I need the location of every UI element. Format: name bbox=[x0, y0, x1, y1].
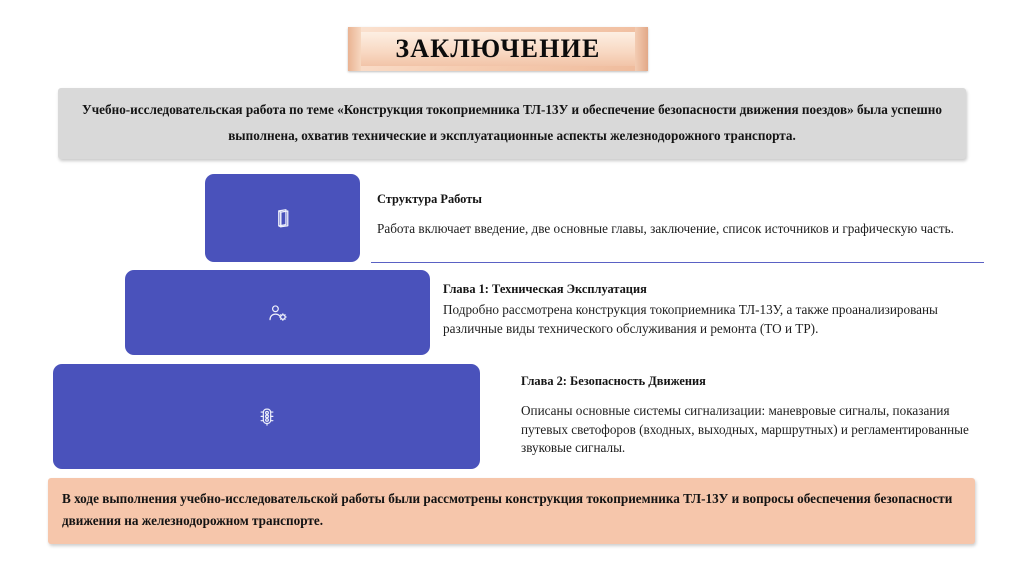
user-gear-icon bbox=[267, 302, 289, 324]
row-3-heading: Глава 2: Безопасность Движения bbox=[521, 374, 991, 389]
row-1-divider bbox=[371, 262, 984, 263]
row-2-heading: Глава 1: Техническая Эксплуатация bbox=[443, 282, 988, 297]
row-3-icon-box bbox=[53, 364, 480, 469]
slide-title-plate: ЗАКЛЮЧЕНИЕ bbox=[348, 27, 648, 71]
intro-banner: Учебно-исследовательская работа по теме … bbox=[58, 88, 966, 159]
book-icon bbox=[272, 207, 294, 229]
row-1-body: Работа включает введение, две основные г… bbox=[377, 220, 977, 239]
row-2-text: Глава 1: Техническая Эксплуатация Подроб… bbox=[443, 282, 988, 338]
row-3-body: Описаны основные системы сигнализации: м… bbox=[521, 402, 991, 458]
row-1-icon-box bbox=[205, 174, 360, 262]
row-2-body: Подробно рассмотрена конструкция токопри… bbox=[443, 301, 988, 338]
traffic-light-icon bbox=[256, 406, 278, 428]
row-1-text: Структура Работы Работа включает введени… bbox=[377, 192, 977, 239]
row-1-heading: Структура Работы bbox=[377, 192, 977, 207]
slide-title: ЗАКЛЮЧЕНИЕ bbox=[348, 27, 648, 71]
conclusion-banner: В ходе выполнения учебно-исследовательск… bbox=[48, 478, 975, 544]
row-3-text: Глава 2: Безопасность Движения Описаны о… bbox=[521, 374, 991, 458]
row-2-icon-box bbox=[125, 270, 430, 355]
